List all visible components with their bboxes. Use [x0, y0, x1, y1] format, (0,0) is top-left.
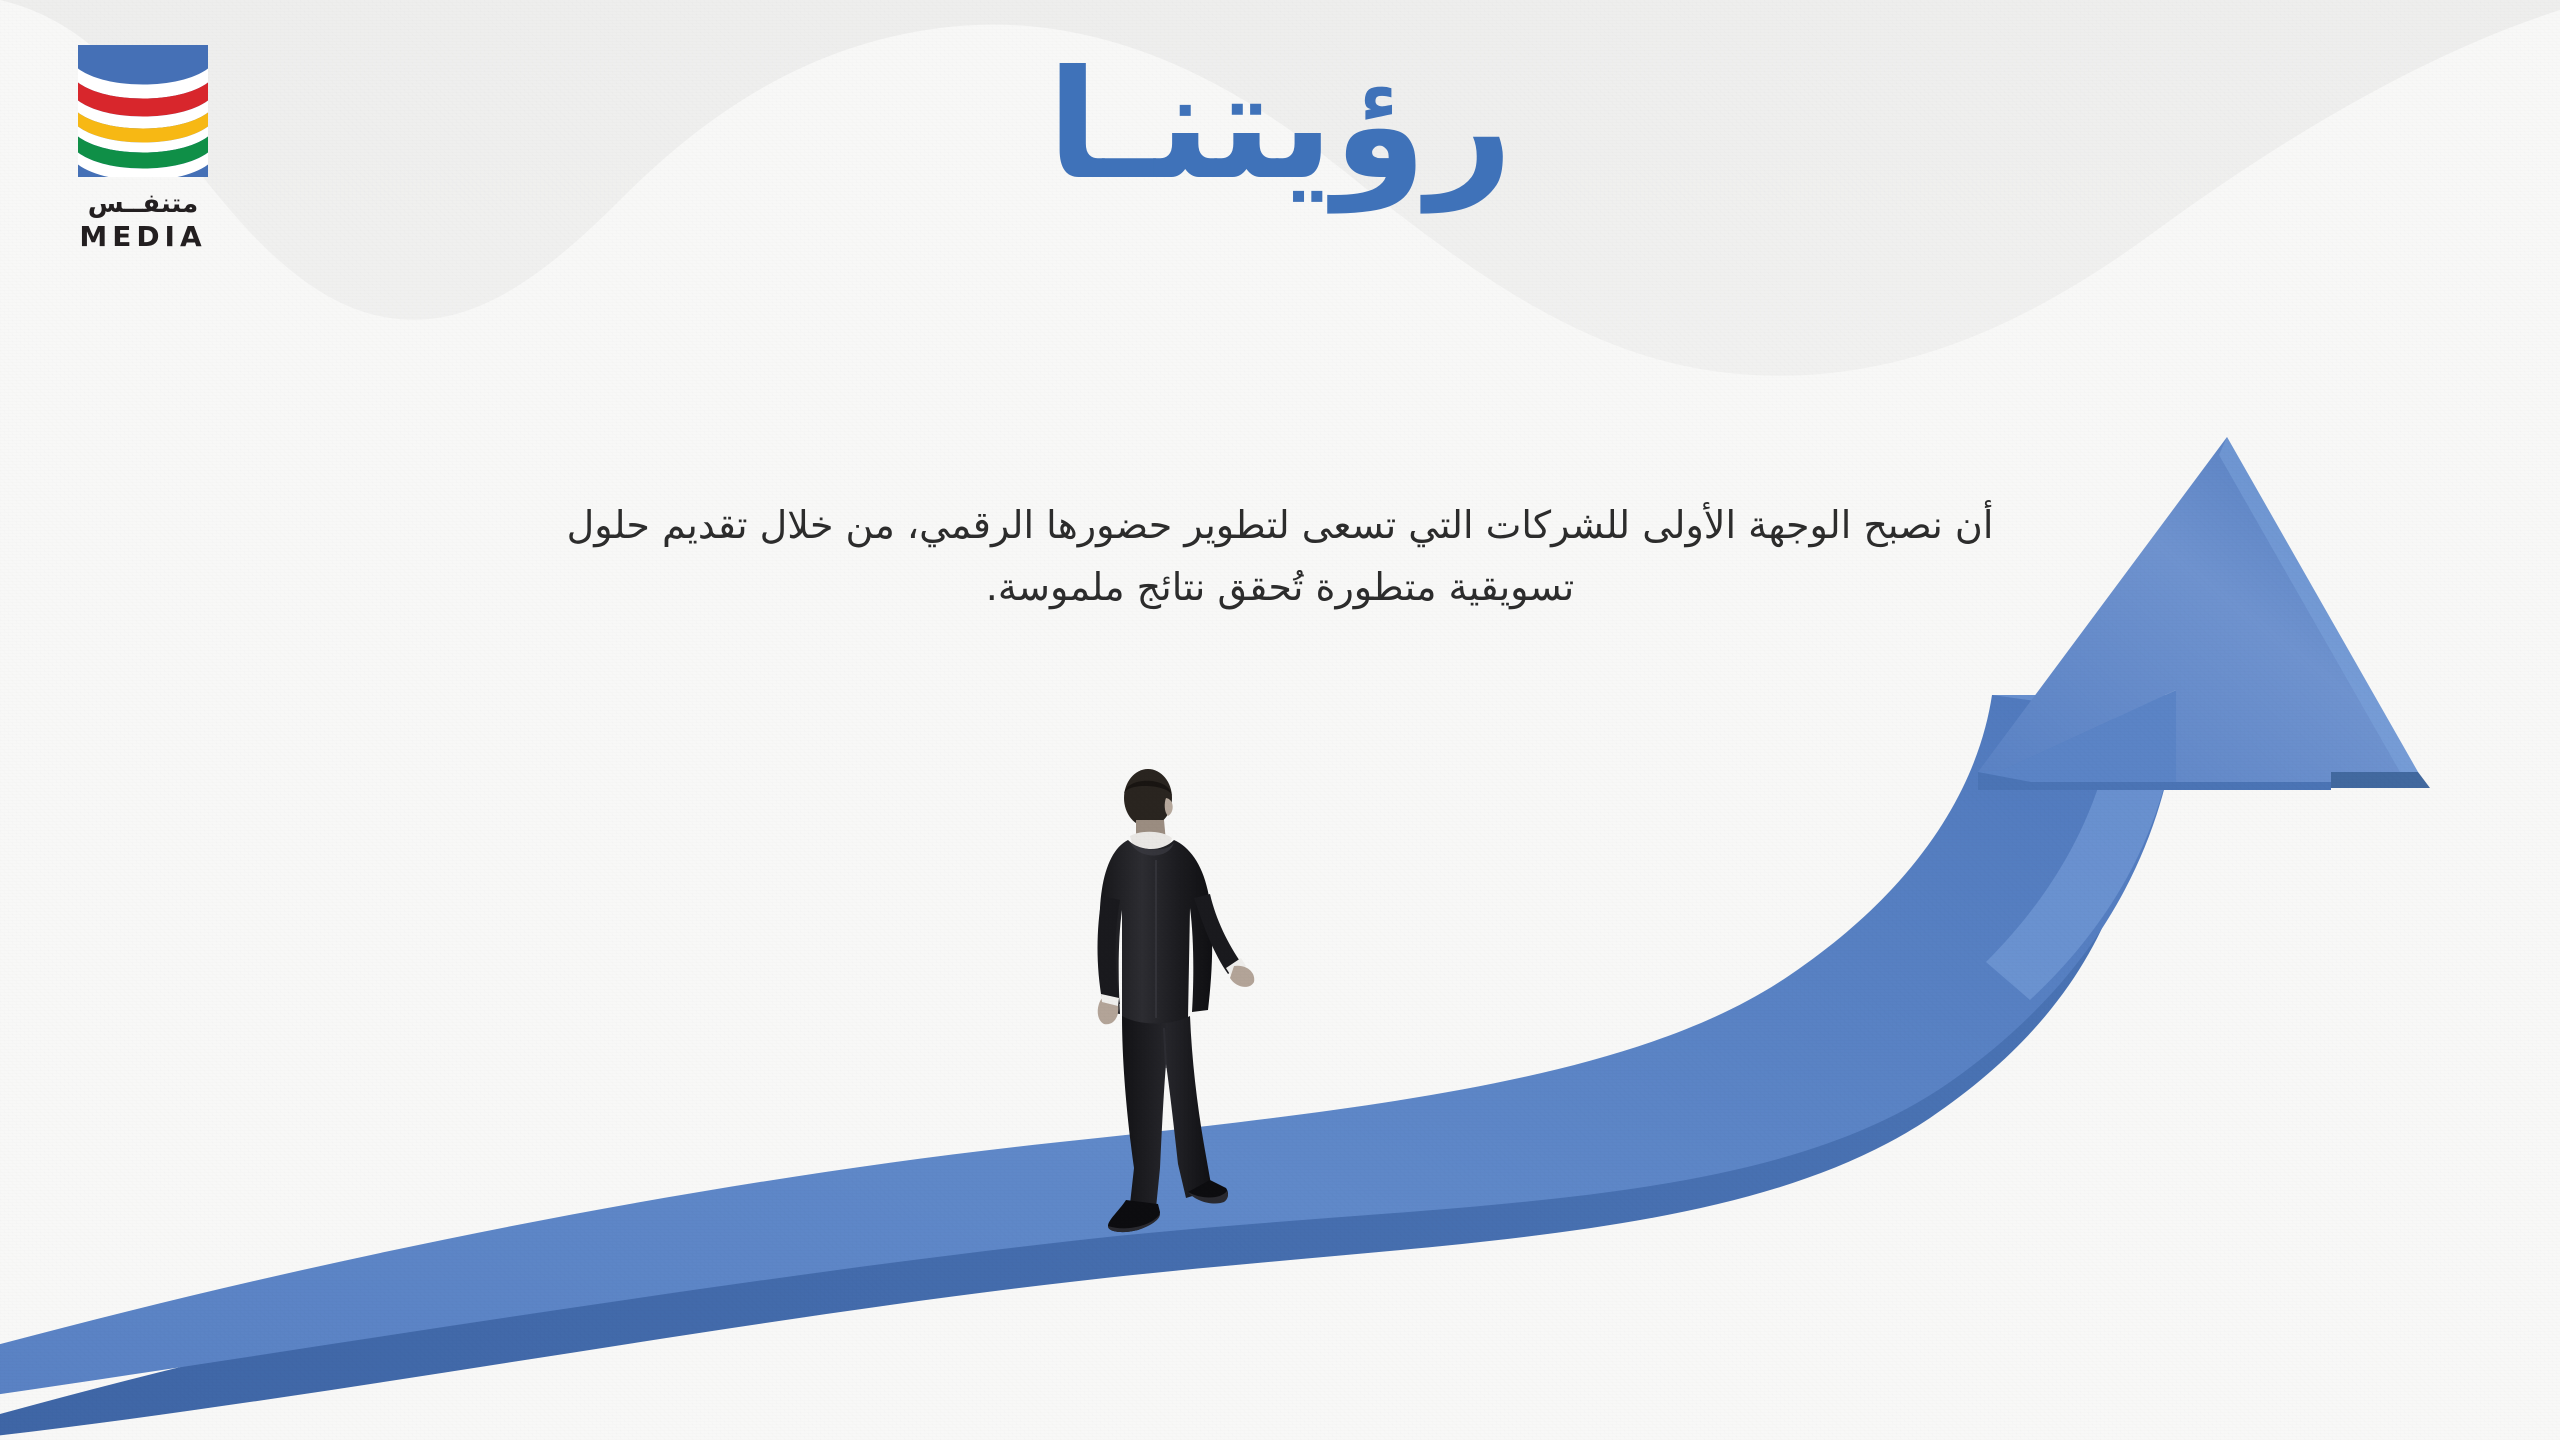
upward-growth-arrow-icon — [0, 0, 2560, 1440]
vision-slide: متنفــس MEDIA رؤيتنـا أن نصبح الوجهة الأ… — [0, 0, 2560, 1440]
page-title: رؤيتنـا — [0, 40, 2560, 213]
logo-name-english: MEDIA — [78, 223, 208, 251]
vision-paragraph: أن نصبح الوجهة الأولى للشركات التي تسعى … — [560, 495, 2000, 618]
walking-businessman-icon — [1078, 768, 1258, 1240]
